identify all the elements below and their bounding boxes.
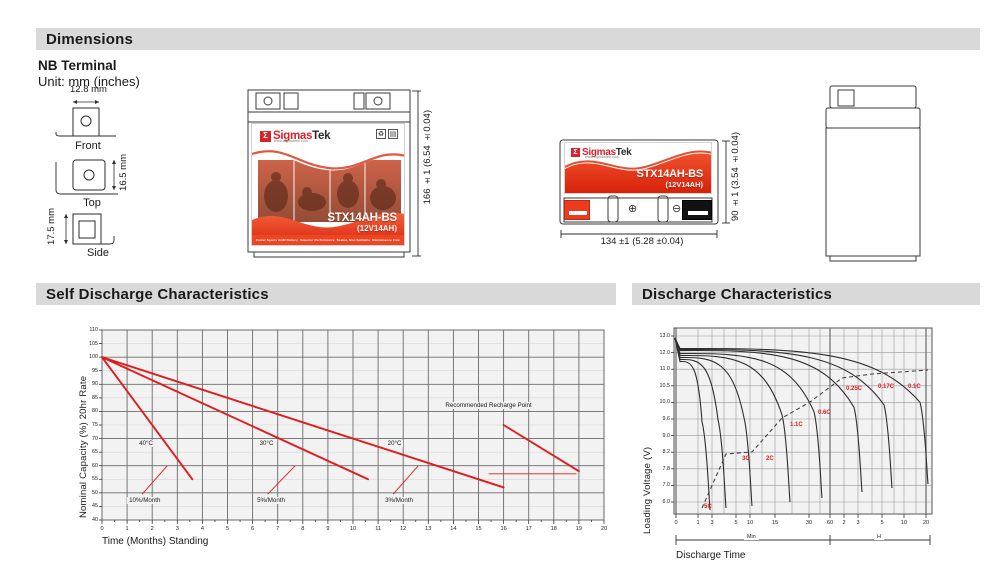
x-tick-label: 4	[192, 526, 212, 532]
curve-label: 2C	[766, 456, 774, 462]
top-height-dimension: 16.5 mm	[118, 154, 129, 191]
section-title-discharge: Discharge Characteristics	[642, 286, 832, 303]
battery-top-view: Σ SigmasTek www.sigmastek.com STX14AH-BS…	[558, 138, 758, 258]
chart-annotation: 20°C	[386, 440, 404, 447]
positive-polarity-icon: ⊕	[628, 204, 637, 215]
x-tick-label: 10	[343, 526, 363, 532]
y-tick-label: 110	[72, 327, 98, 333]
y-tick-label: 13.0	[644, 333, 670, 339]
curve-label: 0.25C	[846, 386, 862, 392]
section-header-dimensions: Dimensions	[36, 28, 980, 50]
y-tick-label: 50	[72, 490, 98, 496]
y-tick-label: 8.2	[644, 449, 670, 455]
self-discharge-x-axis-title: Time (Months) Standing	[102, 536, 208, 547]
y-tick-label: 60	[72, 463, 98, 469]
curve-label: 5C	[704, 504, 712, 510]
chart-annotation: 3%/Month	[383, 497, 415, 504]
chart-annotation: 10%/Month	[127, 497, 162, 504]
sigma-logo-icon: Σ	[260, 131, 271, 142]
brand-website: www.sigmastek.com	[274, 139, 308, 143]
y-tick-label: 10.5	[644, 383, 670, 389]
x-tick-label: 20	[916, 520, 936, 526]
x-unit-minutes: Min	[744, 534, 759, 540]
y-tick-label: 11.0	[644, 366, 670, 372]
x-tick-label: 5	[218, 526, 238, 532]
x-tick-label: 19	[569, 526, 589, 532]
battery-model-top: STX14AH-BS	[637, 168, 703, 180]
y-tick-label: 12.0	[644, 350, 670, 356]
nb-terminal-title: NB Terminal	[38, 58, 117, 73]
battery-voltage-front: (12V14AH)	[357, 224, 397, 233]
sigma-logo-icon-top: Σ	[571, 148, 580, 157]
curve-label: 3C	[742, 456, 750, 462]
x-tick-label: 2	[142, 526, 162, 532]
y-tick-label: 70	[72, 436, 98, 442]
x-tick-label: 16	[494, 526, 514, 532]
curve-label: 0.17C	[878, 384, 894, 390]
curve-label: 0.1C	[908, 384, 921, 390]
x-tick-label: 14	[443, 526, 463, 532]
x-tick-label: 18	[544, 526, 564, 532]
feature-strip: Power Sports AGM Battery Superior Perfor…	[252, 235, 404, 245]
feature-2: Sealed, Non Spillable	[337, 238, 370, 242]
y-tick-label: 7.0	[644, 482, 670, 488]
side-height-dimension: 17.5 mm	[46, 208, 57, 245]
x-tick-label: 8	[293, 526, 313, 532]
x-tick-label: 20	[594, 526, 614, 532]
x-tick-label: 5	[872, 520, 892, 526]
x-tick-label: 30	[799, 520, 819, 526]
recycle-icon: ♻	[376, 129, 386, 139]
x-tick-label: 11	[368, 526, 388, 532]
y-tick-label: 40	[72, 517, 98, 523]
certification-icons: ♻ ▤	[376, 129, 398, 139]
terminal-drawings: 12.8 mm Front 16.5 mm Top 17.5 mm Side	[36, 90, 216, 270]
side-view-label: Side	[68, 247, 128, 259]
y-tick-label: 45	[72, 503, 98, 509]
y-tick-label: 80	[72, 408, 98, 414]
x-tick-label: 6	[243, 526, 263, 532]
x-tick-label: 0	[666, 520, 686, 526]
discharge-x-axis-title: Discharge Time	[676, 550, 745, 561]
y-tick-label: 85	[72, 395, 98, 401]
x-unit-hours: H	[874, 534, 884, 540]
battery-depth-dimension: 90 ±1 (3.54 ±0.04)	[730, 132, 741, 221]
x-tick-label: 13	[418, 526, 438, 532]
x-tick-label: 1	[117, 526, 137, 532]
curve-label: 1.1C	[790, 422, 803, 428]
x-tick-label: 9	[318, 526, 338, 532]
discharge-chart: Loading Voltage (V) 13.012.011.010.510.0…	[632, 318, 980, 568]
chart-annotation: 40°C	[137, 440, 155, 447]
feature-1: Superior Performance	[300, 238, 335, 242]
battery-top-label: Σ SigmasTek www.sigmastek.com STX14AH-BS…	[564, 142, 712, 194]
y-tick-label: 90	[72, 381, 98, 387]
y-tick-label: 9.0	[644, 433, 670, 439]
battery-height-dimension: 166 ±1 (6.54 ±0.04)	[422, 110, 433, 204]
x-tick-label: 3	[702, 520, 722, 526]
feature-3: Maintenance Free	[372, 238, 400, 242]
top-view-label: Top	[62, 197, 122, 209]
section-header-self-discharge: Self Discharge Characteristics	[36, 283, 616, 305]
y-tick-label: 9.6	[644, 416, 670, 422]
battery-side-outline-view	[818, 82, 928, 267]
x-tick-label: 0	[92, 526, 112, 532]
self-discharge-chart: Nominal Capacity (%) 20hr Rate 404550556…	[36, 318, 616, 558]
battery-width-dimension: 134 ±1 (5.28 ±0.04)	[572, 236, 712, 247]
x-tick-label: 3	[848, 520, 868, 526]
brand-website-top: www.sigmastek.com	[585, 155, 619, 159]
chart-annotation: 30°C	[258, 440, 276, 447]
battery-disposal-icon: ▤	[388, 129, 398, 139]
brand-name-tek: Tek	[312, 130, 330, 142]
x-tick-label: 10	[740, 520, 760, 526]
y-tick-label: 7.8	[644, 466, 670, 472]
y-tick-label: 6.0	[644, 499, 670, 505]
negative-polarity-icon: ⊖	[672, 204, 681, 215]
section-header-discharge: Discharge Characteristics	[632, 283, 980, 305]
x-tick-label: 10	[894, 520, 914, 526]
x-tick-label: 3	[167, 526, 187, 532]
section-title-dimensions: Dimensions	[46, 31, 133, 48]
battery-voltage-top: (12V14AH)	[665, 180, 703, 189]
chart-annotation: Recommended Recharge Point	[443, 402, 533, 409]
battery-front-view: Σ SigmasTek www.sigmastek.com ♻ ▤ STX14A…	[246, 88, 421, 263]
x-tick-label: 15	[469, 526, 489, 532]
front-width-dimension: 12.8 mm	[70, 84, 107, 95]
section-title-self-discharge: Self Discharge Characteristics	[46, 286, 269, 303]
front-view-label: Front	[58, 140, 118, 152]
y-tick-label: 105	[72, 341, 98, 347]
x-tick-label: 15	[765, 520, 785, 526]
battery-model-front: STX14AH-BS	[327, 212, 397, 224]
y-tick-label: 100	[72, 354, 98, 360]
y-tick-label: 10.0	[644, 399, 670, 405]
y-tick-label: 95	[72, 368, 98, 374]
negative-terminal-block	[682, 200, 712, 220]
positive-terminal-block	[564, 200, 590, 220]
chart-annotation: 5%/Month	[255, 497, 287, 504]
y-tick-label: 75	[72, 422, 98, 428]
x-tick-label: 7	[268, 526, 288, 532]
y-tick-label: 65	[72, 449, 98, 455]
x-tick-label: 17	[519, 526, 539, 532]
curve-label: 0.6C	[818, 410, 831, 416]
y-tick-label: 55	[72, 476, 98, 482]
x-tick-label: 12	[393, 526, 413, 532]
battery-front-label: Σ SigmasTek www.sigmastek.com ♻ ▤ STX14A…	[251, 123, 405, 246]
feature-0: Power Sports AGM Battery	[256, 238, 298, 242]
